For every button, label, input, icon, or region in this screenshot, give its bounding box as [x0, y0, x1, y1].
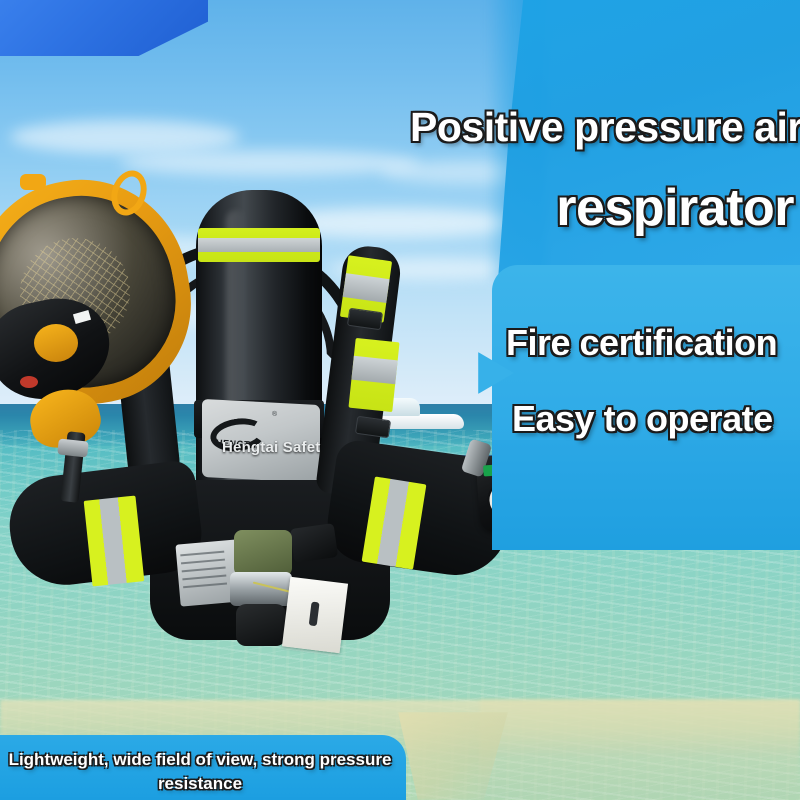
reflective-silver-band [198, 238, 320, 252]
valve-side-block [290, 523, 338, 563]
plate-text-line [180, 551, 224, 557]
brand-overlay-text: Hengtai Safety [222, 439, 329, 456]
cloud-shape [10, 120, 240, 154]
registered-trademark-icon: ® [272, 411, 277, 418]
scba-product: HENGTAI ® Hengtai Safety [0, 150, 560, 670]
sandbar-right [480, 700, 800, 800]
reflective-silver-band [343, 273, 390, 303]
promo-image-canvas: HENGTAI ® Hengtai Safety [0, 0, 800, 800]
headline-line-2: respirator [556, 178, 794, 238]
full-face-mask [0, 180, 204, 420]
headline-line-1: Positive pressure air [410, 104, 800, 151]
feature-item-fire-certification: Fire certification [506, 322, 777, 364]
strap-reflective-stripe [348, 338, 399, 412]
plate-text-line [182, 567, 226, 573]
features-panel-extension [492, 440, 800, 550]
warning-hang-tag [282, 577, 348, 654]
plate-text-line [181, 559, 225, 565]
feature-item-easy-to-operate: Easy to operate [512, 398, 773, 440]
tag-printed-mark [309, 601, 320, 626]
reflective-silver-band [351, 356, 397, 384]
plate-text-line [183, 582, 227, 588]
waist-pad-reflective-stripe [84, 496, 145, 587]
valve-body [234, 530, 292, 576]
mask-strap-tab [20, 174, 46, 190]
mask-purge-button-icon [20, 376, 38, 388]
cylinder-valve-assembly [200, 520, 340, 650]
cylinder-reflective-stripe [198, 228, 320, 262]
mask-adjust-knob-icon [34, 324, 78, 362]
caption-text: Lightweight, wide field of view, strong … [0, 748, 400, 796]
valve-handwheel [236, 604, 286, 646]
plate-text-line [182, 575, 226, 581]
regulator-chrome-ring [57, 438, 89, 457]
